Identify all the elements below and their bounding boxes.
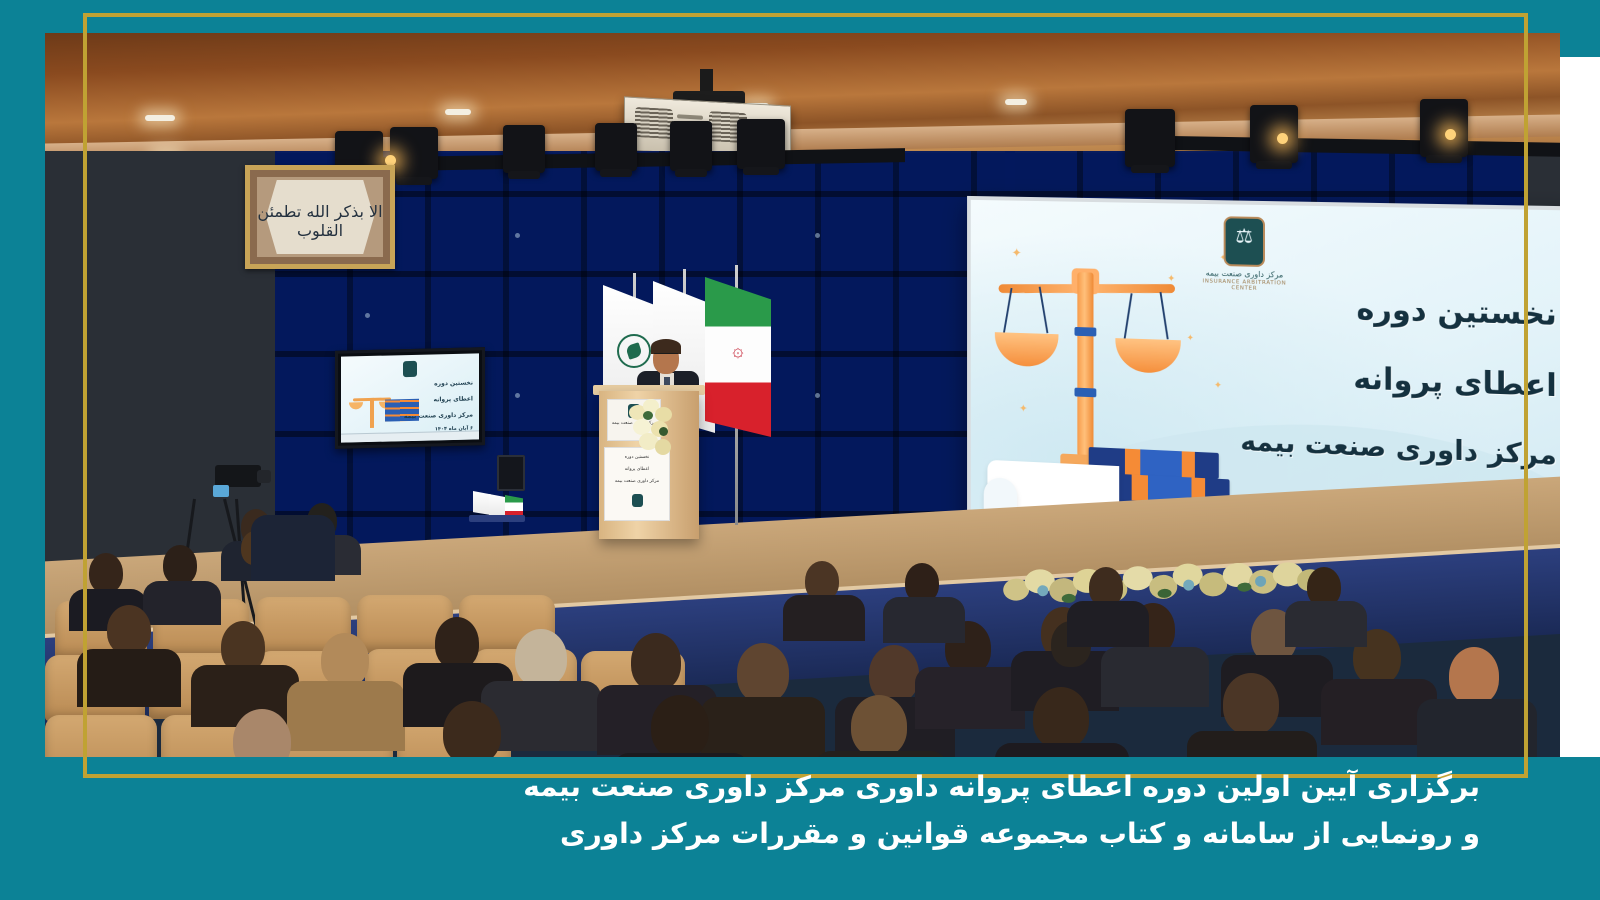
audience-shoulders — [1285, 601, 1367, 647]
wall-control-panel — [497, 455, 525, 491]
caption-line-2: و رونمایی از سامانه و کتاب مجموعه قوانین… — [180, 810, 1480, 857]
stage-spotlight-icon — [737, 119, 785, 169]
spotlight-glow — [1445, 129, 1456, 140]
panel-stud — [815, 393, 820, 398]
stage-side-monitor: نخستین دوره اعطای پروانه مرکز داوری صنعت… — [335, 347, 485, 449]
audience-shoulders — [143, 581, 221, 625]
ceiling-light — [145, 115, 175, 121]
stage-spotlight-icon — [595, 123, 637, 171]
audience-shoulders — [995, 743, 1129, 757]
stage-spotlight-icon — [390, 127, 438, 179]
stage-spotlight-icon — [1250, 105, 1298, 163]
audience-head — [321, 633, 369, 687]
audience-shoulders — [883, 597, 965, 643]
audience-shoulders — [915, 667, 1025, 729]
stage-spotlight-icon — [670, 121, 712, 171]
audience-head — [89, 553, 123, 593]
scales-of-justice-icon: ⚖ — [1224, 216, 1265, 267]
slide-headline-block: نخستین دوره اعطای پروانه مرکز داوری صنعت… — [1192, 287, 1556, 507]
audience-head — [1223, 673, 1279, 735]
monitor-line-1: نخستین دوره — [434, 379, 473, 387]
audience-shoulders — [287, 681, 405, 751]
audience-head — [651, 695, 709, 757]
audience-shoulders — [77, 649, 181, 707]
flag-logo-icon — [617, 334, 651, 368]
audience-shoulders — [701, 697, 825, 757]
audience-head — [1033, 687, 1089, 749]
calligraphy-text: الا بذکر الله تطمئن القلوب — [250, 202, 390, 240]
panel-stud — [515, 393, 520, 398]
speaker-glasses-icon — [654, 353, 678, 359]
audience-head — [107, 605, 151, 655]
iran-national-flag: ۞ — [705, 277, 771, 437]
monitor-logo-icon — [403, 361, 417, 377]
audience-head — [631, 633, 681, 691]
monitor-taskbar — [341, 430, 479, 442]
sparkle-icon: ✦ — [1012, 247, 1022, 260]
ceiling-light — [445, 109, 471, 115]
stage-spotlight-icon — [503, 125, 545, 173]
audience-shoulders — [1417, 699, 1537, 757]
video-camera-icon — [215, 465, 261, 487]
audience-head — [737, 643, 789, 703]
wall-calligraphy-frame: الا بذکر الله تطمئن القلوب — [245, 165, 395, 269]
ceiling-light — [1005, 99, 1027, 105]
caption-bar: برگزاری آیین اولین دوره اعطای پروانه داو… — [0, 757, 1600, 900]
panel-stud — [815, 233, 820, 238]
speaker-hair — [651, 339, 681, 354]
slide-headline-3: مرکز داوری صنعت بیمه — [1192, 424, 1556, 472]
audience-shoulders — [1187, 731, 1317, 757]
teal-band-right — [1560, 0, 1600, 57]
teal-band-left — [0, 0, 46, 770]
auditorium-seat — [45, 715, 157, 757]
desk-flag — [473, 491, 491, 515]
audience-head — [443, 701, 501, 757]
slide-headline-2: اعطای پروانه — [1192, 356, 1556, 405]
stage-spotlight-icon — [1125, 109, 1175, 167]
caption-text-block: برگزاری آیین اولین دوره اعطای پروانه داو… — [180, 763, 1480, 857]
stage-spotlight-icon — [1420, 99, 1468, 157]
monitor-line-2: اعطای پروانه — [433, 395, 473, 403]
panel-stud — [515, 233, 520, 238]
audience-head — [851, 695, 907, 757]
spotlight-glow — [1277, 133, 1288, 144]
podium-flower-arrangement — [625, 399, 681, 461]
panel-stud — [365, 313, 370, 318]
audience-head — [435, 617, 479, 669]
audience-head — [163, 545, 197, 585]
camera-lcd-screen — [213, 485, 229, 497]
event-photograph: الا بذکر الله تطمئن القلوب نخستین دوره ا… — [45, 33, 1560, 757]
audience-shoulders — [783, 595, 865, 641]
caption-line-1: برگزاری آیین اولین دوره اعطای پروانه داو… — [180, 763, 1480, 810]
monitor-line-3: مرکز داوری صنعت بیمه — [404, 411, 473, 420]
audience-shoulders — [1067, 601, 1149, 647]
slide-brand-logo: ⚖ مرکز داوری صنعت بیمه INSURANCE ARBITRA… — [1193, 216, 1295, 294]
podium-sign-line-3: مرکز داوری صنعت بیمه — [605, 474, 669, 486]
camera-lens-icon — [257, 470, 271, 483]
audience-head — [1449, 647, 1499, 705]
camera-operator-body — [251, 515, 335, 581]
audience-head — [515, 629, 567, 687]
event-poster: الا بذکر الله تطمئن القلوب نخستین دوره ا… — [0, 0, 1600, 900]
audience-shoulders — [1101, 647, 1209, 707]
podium-sign-line-2: اعطای پروانه — [605, 462, 669, 474]
iran-emblem-icon: ۞ — [732, 341, 743, 360]
